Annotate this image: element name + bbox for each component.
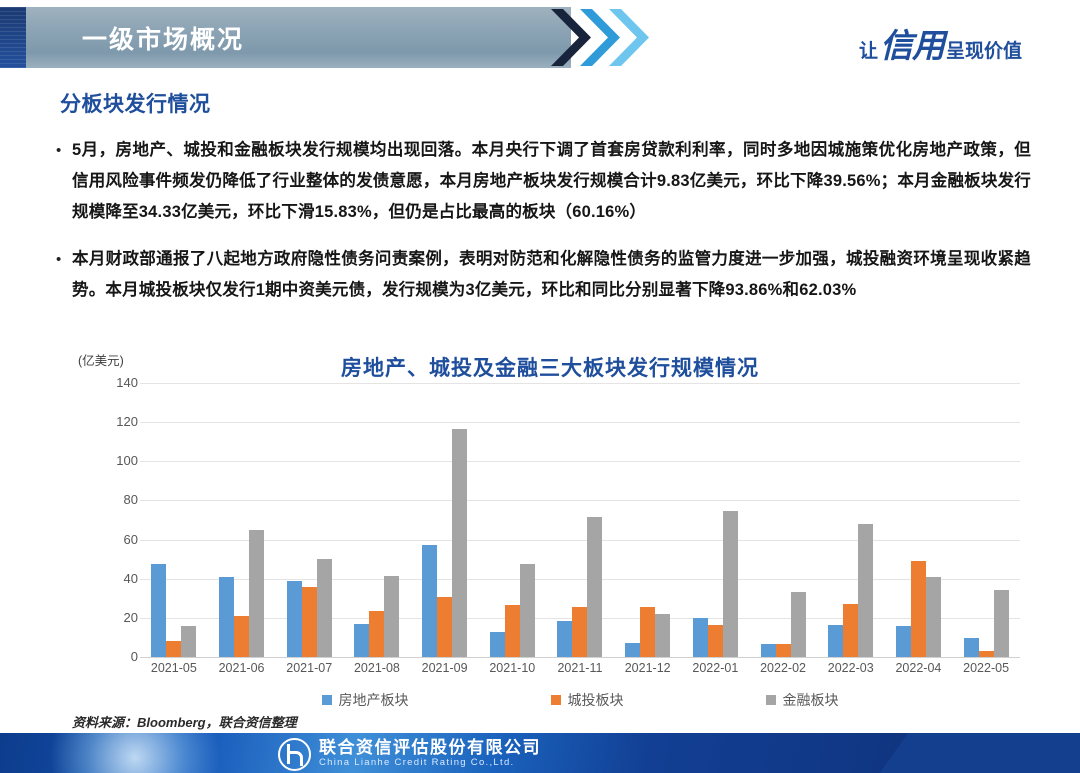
chart-bar [437,597,452,657]
chart-bar-group [952,383,1020,657]
brand-tagline-suffix: 呈现价值 [946,36,1022,63]
chart-bar-group [275,383,343,657]
bullet-list: • 5月，房地产、城投和金融板块发行规模均出现回落。本月央行下调了首套房贷款利利… [56,135,1031,322]
chart-bar-group [817,383,885,657]
footer-glow-decoration [30,733,240,773]
chart-bar-group [885,383,953,657]
chart-legend-swatch [322,695,332,705]
chart-x-tick-label: 2022-04 [885,661,953,675]
list-item: • 5月，房地产、城投和金融板块发行规模均出现回落。本月央行下调了首套房贷款利利… [56,135,1031,228]
chart-bar [520,564,535,657]
chart-bar-group [478,383,546,657]
chart-bar [490,632,505,657]
chart-bar [384,576,399,657]
chart-y-tick-label: 60 [78,532,138,547]
chart-bar [219,577,234,657]
company-name-cn: 联合资信评估股份有限公司 [319,739,541,757]
chart-bar [317,559,332,657]
chart-bar [234,616,249,657]
chart-y-tick-label: 40 [78,571,138,586]
chart-bar [655,614,670,657]
chart-legend-item[interactable]: 城投板块 [551,690,624,710]
chart-x-tick-label: 2022-01 [682,661,750,675]
chart-bar-group [140,383,208,657]
bullet-marker: • [56,244,72,275]
chart-y-tick-label: 20 [78,610,138,625]
chart-bar [994,590,1009,657]
header-title-bar: 一级市场概况 [26,7,571,68]
chart-bar-group [546,383,614,657]
source-note: 资料来源：Bloomberg，联合资信整理 [72,712,297,731]
chart-x-tick-label: 2022-03 [817,661,885,675]
chart-bar [422,545,437,657]
chart-bar [572,607,587,657]
chart-x-tick-label: 2021-06 [208,661,276,675]
chart-plot-area: 140120100806040200 [140,383,1020,658]
chart-bar [723,511,738,657]
chart-bar [505,605,520,657]
chevron-right-icon-light [607,7,653,68]
chart-x-tick-labels: 2021-052021-062021-072021-082021-092021-… [140,661,1020,675]
chart-bar-group [614,383,682,657]
chart-bar [287,581,302,657]
chart-bar [354,624,369,657]
chart-x-tick-label: 2021-12 [614,661,682,675]
chart-bar [791,592,806,657]
page-title: 一级市场概况 [82,20,244,56]
chart-x-tick-label: 2021-05 [140,661,208,675]
brand-tagline-script: 信用 [880,19,944,67]
lianhe-logo-icon [278,738,311,771]
chart-bar [858,524,873,657]
chart-legend-item[interactable]: 金融板块 [766,690,839,710]
chart-legend-swatch [766,695,776,705]
chart-y-tick-label: 140 [78,375,138,390]
chart-bar [761,644,776,657]
chart-bar-group [343,383,411,657]
chart-legend-item[interactable]: 房地产板块 [322,690,409,710]
chart-bar-group [749,383,817,657]
page-header: 一级市场概况 [0,7,660,68]
page-footer: 联合资信评估股份有限公司 China Lianhe Credit Rating … [0,733,1080,773]
bullet-marker: • [56,135,72,166]
chart-x-tick-label: 2021-08 [343,661,411,675]
chart-y-tick-label: 0 [78,649,138,664]
chart-x-tick-label: 2022-05 [952,661,1020,675]
chart-bar-group [208,383,276,657]
chart-bar [369,611,384,657]
chart-x-tick-label: 2021-07 [275,661,343,675]
chart-x-tick-label: 2021-11 [546,661,614,675]
chart-bar [979,651,994,657]
bullet-text: 本月财政部通报了八起地方政府隐性债务问责案例，表明对防范和化解隐性债务的监管力度… [72,244,1031,306]
chart-y-tick-label: 80 [78,492,138,507]
chart-bar [843,604,858,657]
chart-bar [249,530,264,657]
chart-x-tick-label: 2021-10 [478,661,546,675]
chart-legend: 房地产板块城投板块金融板块 [140,690,1020,710]
chart-bar-group [682,383,750,657]
chart-bar [166,641,181,657]
footer-slash-decoration [880,733,1080,773]
brand-tagline-prefix: 让 [859,36,878,63]
company-name-en: China Lianhe Credit Rating Co.,Ltd. [319,757,541,769]
chart-bar [452,429,467,657]
chart-legend-label: 房地产板块 [339,690,409,710]
list-item: • 本月财政部通报了八起地方政府隐性债务问责案例，表明对防范和化解隐性债务的监管… [56,244,1031,306]
chart-bar [693,618,708,657]
brand-tagline: 让 信用 呈现价值 [859,19,1022,67]
chart-bar [587,517,602,657]
chart-legend-label: 金融板块 [783,690,839,710]
chart-bar [896,626,911,657]
chart-legend-label: 城投板块 [568,690,624,710]
chart-x-tick-label: 2021-09 [411,661,479,675]
chart-y-tick-label: 120 [78,414,138,429]
header-left-accent-block [0,7,26,68]
bar-chart: (亿美元) 房地产、城投及金融三大板块发行规模情况 14012010080604… [70,348,1030,713]
chart-x-tick-label: 2022-02 [749,661,817,675]
chart-bar [302,587,317,657]
bullet-text: 5月，房地产、城投和金融板块发行规模均出现回落。本月央行下调了首套房贷款利利率，… [72,135,1031,228]
section-heading: 分板块发行情况 [60,88,211,118]
chart-bar [181,626,196,657]
company-logo: 联合资信评估股份有限公司 China Lianhe Credit Rating … [278,738,541,771]
chart-bar [776,644,791,657]
chart-y-tick-label: 100 [78,453,138,468]
chart-bar-group [411,383,479,657]
chart-x-axis-line [140,657,1020,658]
chart-legend-swatch [551,695,561,705]
chart-bar [708,625,723,657]
chart-bar [828,625,843,657]
chart-bar [911,561,926,657]
chart-bar [640,607,655,657]
chart-bar [557,621,572,657]
chart-bar [625,643,640,657]
chart-title: 房地产、城投及金融三大板块发行规模情况 [70,352,1030,382]
chart-bar [926,577,941,657]
chart-bar [964,638,979,657]
chart-bar [151,564,166,657]
chart-bar-groups [140,383,1020,657]
